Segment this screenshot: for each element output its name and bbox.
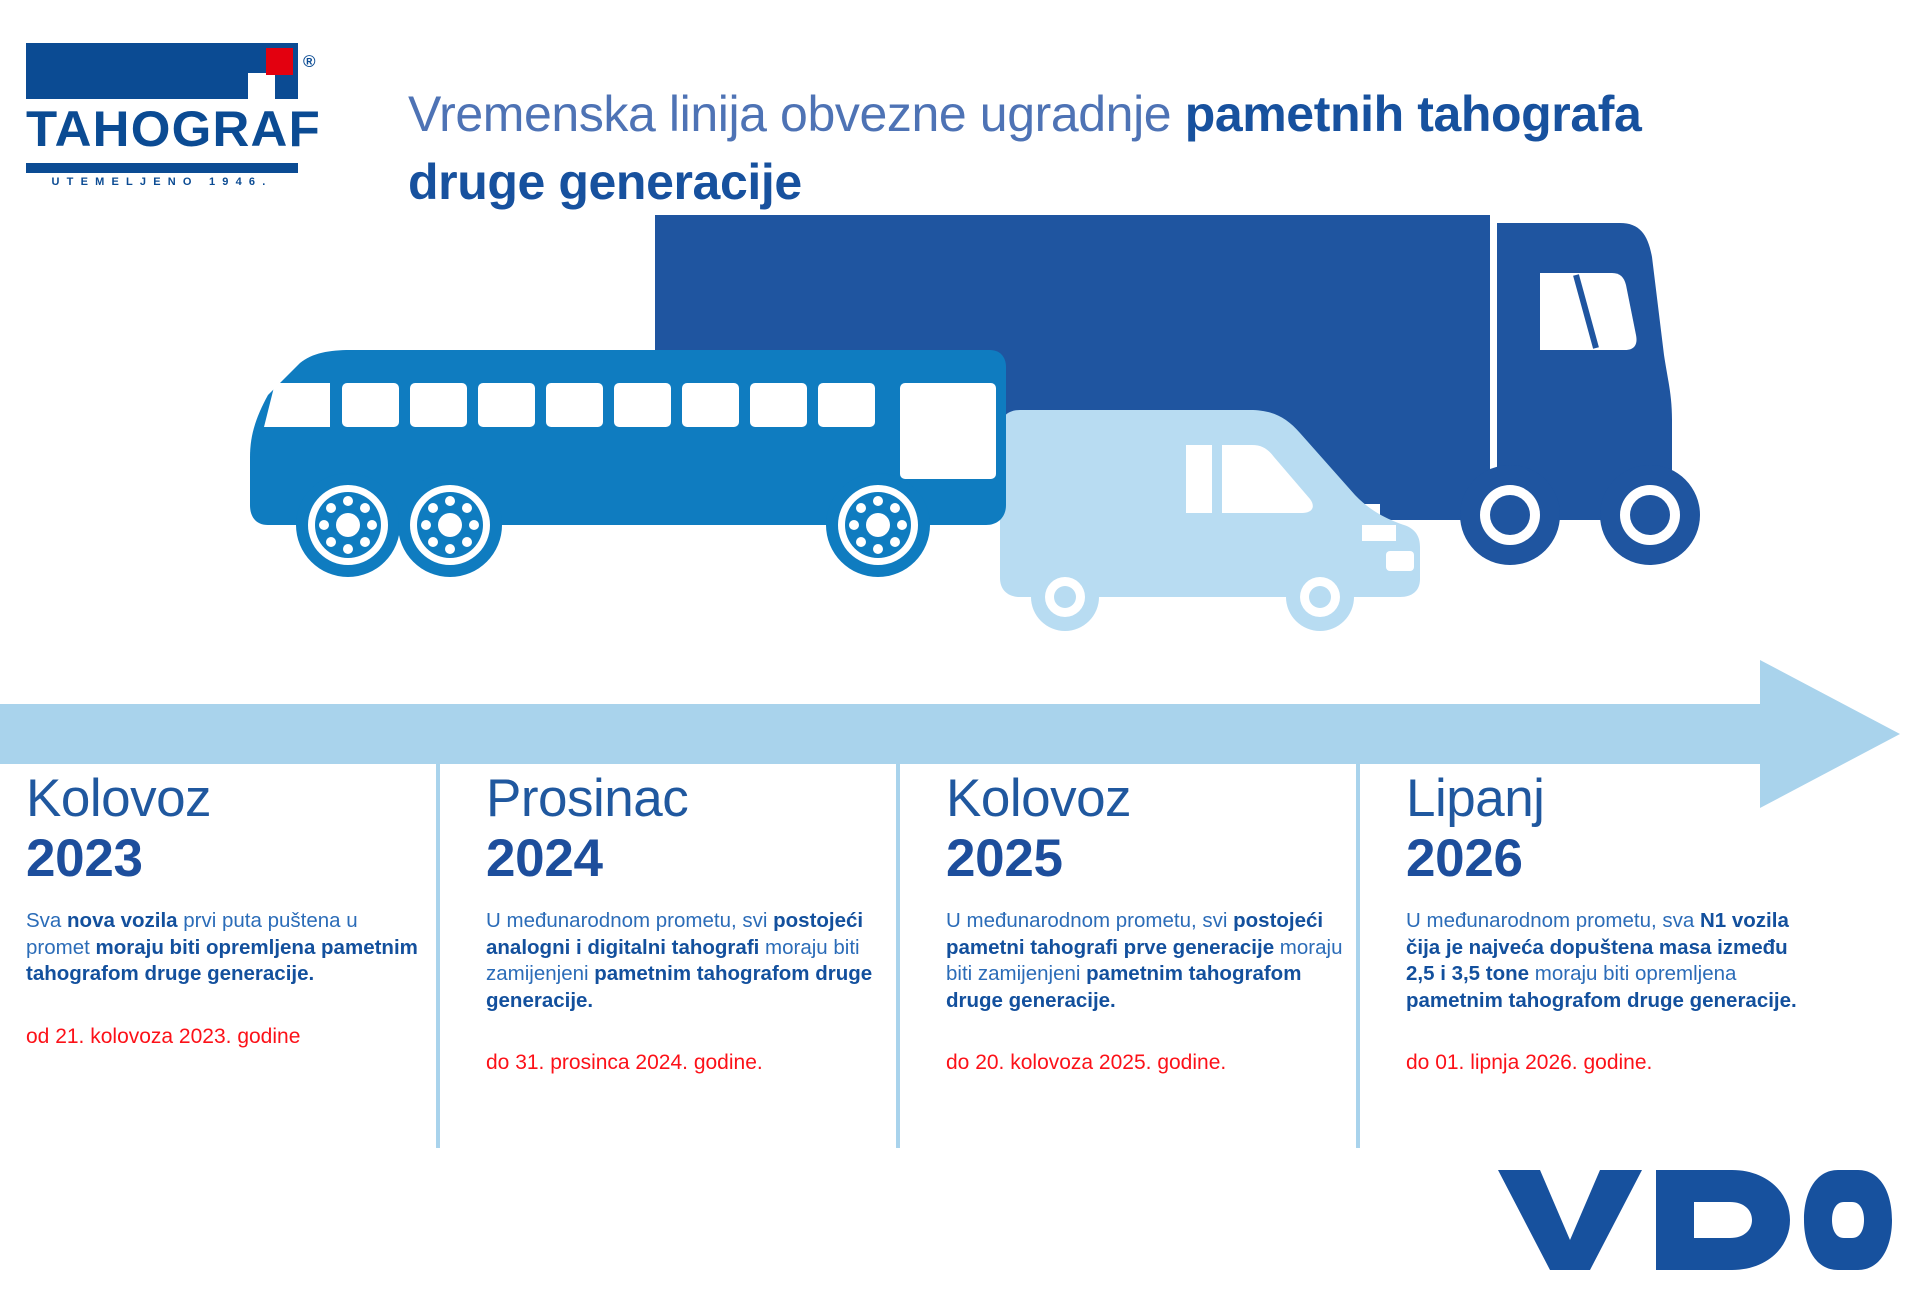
column-divider [436,712,440,1148]
column-year: 2023 [26,828,436,890]
column-body: U međunarodnom prometu, svi postojeći an… [486,908,886,1014]
vehicles-illustration [0,195,1920,695]
column-divider [896,712,900,1148]
column-body: Sva nova vozila prvi puta puštena u prom… [26,908,426,988]
column-body: U međunarodnom prometu, sva N1 vozila či… [1406,908,1806,1014]
body-text: moraju biti opremljena [1529,962,1736,985]
header: ® TAHOGRAF UTEMELJENO 1946. Vremenska li… [0,0,1920,200]
body-emphasis: pametnim tahografom druge generacije. [1406,989,1797,1012]
vdo-logo [1494,1164,1894,1274]
column-month: Kolovoz [26,770,436,828]
logo-white-square [248,73,275,100]
bus-icon [250,350,1006,577]
logo-underline-rule [26,163,298,173]
column-month: Lipanj [1406,770,1816,828]
logo-tagline: UTEMELJENO 1946. [26,176,298,188]
body-text: U međunarodnom prometu, svi [486,909,773,932]
column-divider [1356,712,1360,1148]
timeline-column-0: Kolovoz 2023 Sva nova vozila prvi puta p… [0,770,460,1210]
title-bold-text-1: pametnih tahografa [1185,86,1642,142]
column-deadline: do 31. prosinca 2024. godine. [486,1050,896,1076]
column-deadline: do 01. lipnja 2026. godine. [1406,1050,1816,1076]
body-emphasis: nova vozila [67,909,178,932]
column-deadline: od 21. kolovoza 2023. godine [26,1024,436,1050]
column-year: 2026 [1406,828,1816,890]
logo-wordmark: TAHOGRAF [26,103,303,155]
body-text: Sva [26,909,67,932]
timeline-columns: Kolovoz 2023 Sva nova vozila prvi puta p… [0,770,1920,1210]
body-text: U međunarodnom prometu, svi [946,909,1233,932]
column-deadline: do 20. kolovoza 2025. godine. [946,1050,1356,1076]
timeline-column-2: Kolovoz 2025 U međunarodnom prometu, svi… [920,770,1380,1210]
timeline-column-3: Lipanj 2026 U međunarodnom prometu, sva … [1380,770,1840,1210]
column-body: U međunarodnom prometu, svi postojeći pa… [946,908,1346,1014]
column-year: 2025 [946,828,1356,890]
title-plain-text: Vremenska linija obvezne ugradnje [408,86,1185,142]
tahograf-logo: ® TAHOGRAF UTEMELJENO 1946. [26,43,330,191]
body-text: U međunarodnom prometu, sva [1406,909,1700,932]
column-month: Kolovoz [946,770,1356,828]
logo-red-square [266,48,293,75]
timeline-column-1: Prosinac 2024 U međunarodnom prometu, sv… [460,770,920,1210]
column-year: 2024 [486,828,896,890]
registered-trademark-icon: ® [303,53,316,70]
column-month: Prosinac [486,770,896,828]
